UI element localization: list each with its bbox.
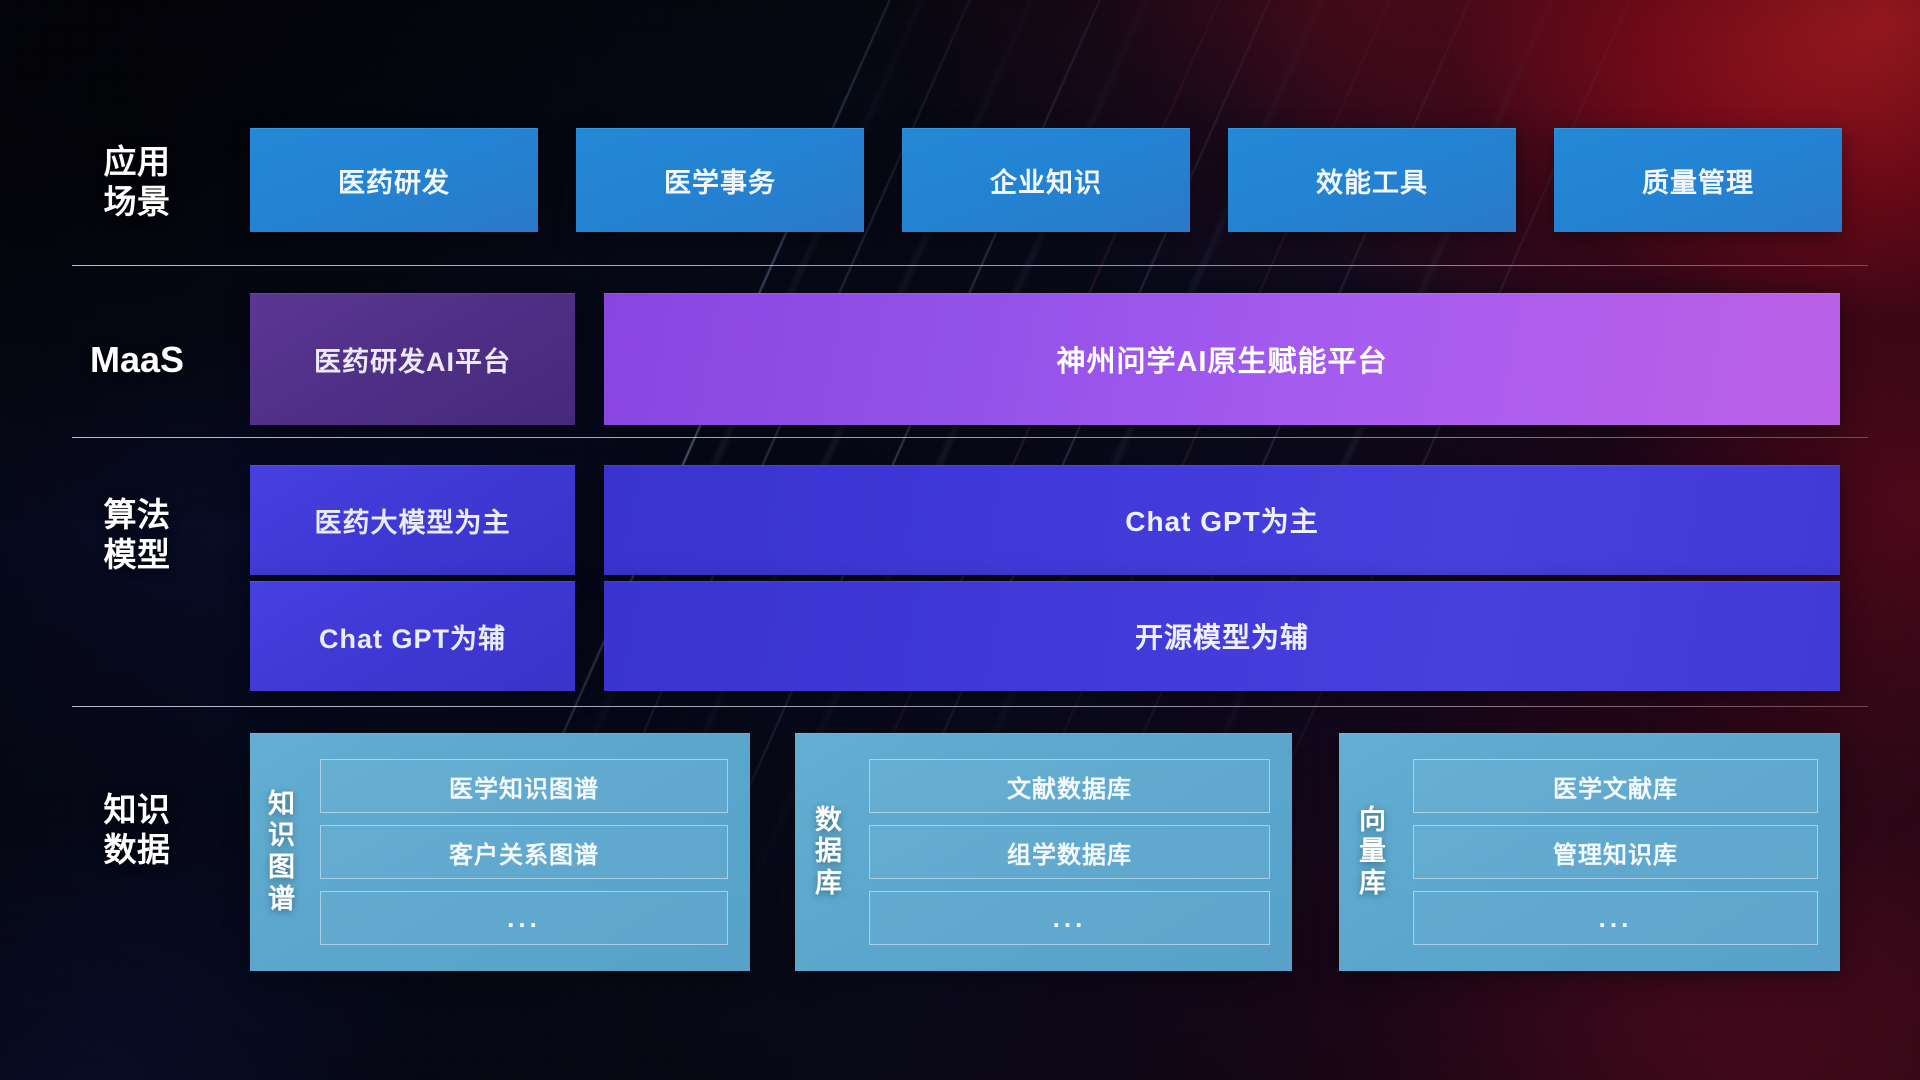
knowledge-item-medical-knowledge-graph[interactable]: 医学知识图谱 [320,759,728,813]
title-char: 库 [1359,868,1387,900]
knowledge-item-more[interactable]: ... [320,891,728,945]
knowledge-item-literature-database[interactable]: 文献数据库 [869,759,1270,813]
knowledge-item-more[interactable]: ... [869,891,1270,945]
scenario-tile-drug-rd[interactable]: 医药研发 [250,128,538,232]
row-label-line-2: 数据 [72,830,202,870]
slide-canvas: 应用 场景 医药研发 医学事务 企业知识 效能工具 质量管理 MaaS 医药研发… [0,0,1920,1080]
title-char: 库 [815,868,843,900]
row-label-line-1: 算法 [72,495,202,535]
knowledge-item-customer-relation-graph[interactable]: 客户关系图谱 [320,825,728,879]
knowledge-item-list: 医学知识图谱 客户关系图谱 ... [314,733,750,971]
scenario-tile-enterprise-knowledge[interactable]: 企业知识 [902,128,1190,232]
row-label-application-scenarios: 应用 场景 [72,142,202,223]
application-scenario-track: 医药研发 医学事务 企业知识 效能工具 质量管理 [250,128,1842,232]
knowledge-item-management-knowledge-store[interactable]: 管理知识库 [1413,825,1818,879]
knowledge-group-vector-store[interactable]: 向 量 库 医学文献库 管理知识库 ... [1339,733,1840,971]
row-label-knowledge-data: 知识 数据 [72,790,202,871]
knowledge-group-title-knowledge-graph: 知 识 图 谱 [250,733,314,971]
knowledge-item-more[interactable]: ... [1413,891,1818,945]
algo-tile-chatgpt-secondary[interactable]: Chat GPT为辅 [250,581,575,691]
divider-after-algorithm-models [72,706,1868,707]
divider-after-application-scenarios [72,265,1868,266]
title-char: 识 [268,820,296,852]
knowledge-group-database[interactable]: 数 据 库 文献数据库 组学数据库 ... [795,733,1292,971]
algo-tile-pharma-llm-primary[interactable]: 医药大模型为主 [250,465,575,575]
title-char: 图 [268,852,296,884]
maas-tile-drug-rd-ai-platform[interactable]: 医药研发AI平台 [250,293,575,425]
divider-after-maas [72,437,1868,438]
scenario-tile-medical-affairs[interactable]: 医学事务 [576,128,864,232]
algo-tile-opensource-secondary[interactable]: 开源模型为辅 [604,581,1840,691]
row-label-algorithm-models: 算法 模型 [72,495,202,576]
row-label-line-2: 场景 [72,182,202,222]
knowledge-group-title-database: 数 据 库 [795,733,863,971]
scenario-tile-efficiency-tools[interactable]: 效能工具 [1228,128,1516,232]
knowledge-item-list: 医学文献库 管理知识库 ... [1407,733,1840,971]
title-char: 据 [815,836,843,868]
title-char: 知 [268,789,296,821]
knowledge-item-omics-database[interactable]: 组学数据库 [869,825,1270,879]
title-char: 谱 [268,884,296,916]
title-char: 数 [815,805,843,837]
maas-tile-shenzhou-wenxue-platform[interactable]: 神州问学AI原生赋能平台 [604,293,1840,425]
title-char: 量 [1359,836,1387,868]
row-label-line-2: 模型 [72,535,202,575]
title-char: 向 [1359,805,1387,837]
knowledge-group-title-vector-store: 向 量 库 [1339,733,1407,971]
row-label-line-1: 知识 [72,790,202,830]
scenario-tile-quality-management[interactable]: 质量管理 [1554,128,1842,232]
knowledge-item-medical-literature-store[interactable]: 医学文献库 [1413,759,1818,813]
row-label-maas: MaaS [72,338,202,382]
row-label-line-1: 应用 [72,142,202,182]
knowledge-item-list: 文献数据库 组学数据库 ... [863,733,1292,971]
knowledge-group-knowledge-graph[interactable]: 知 识 图 谱 医学知识图谱 客户关系图谱 ... [250,733,750,971]
algo-tile-chatgpt-primary[interactable]: Chat GPT为主 [604,465,1840,575]
